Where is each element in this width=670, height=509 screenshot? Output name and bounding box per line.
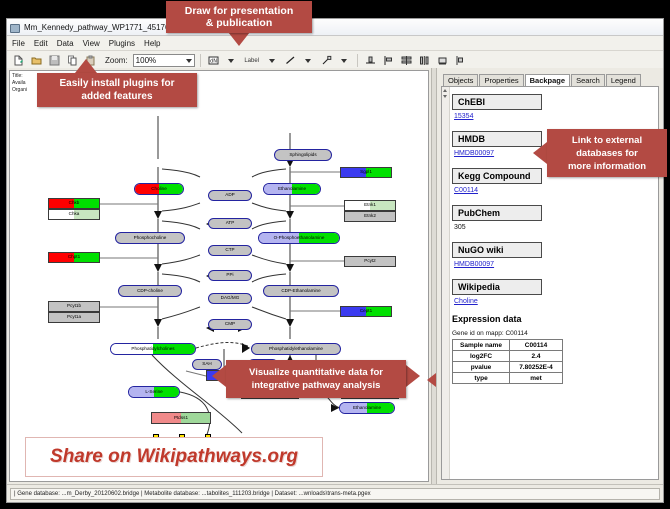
table-row: type met	[453, 373, 563, 384]
db-heading: ChEBI	[452, 94, 542, 110]
interaction-dropdown-icon[interactable]	[337, 53, 352, 68]
node-label: Cept1	[360, 309, 372, 314]
callout-draw-arrow	[228, 32, 250, 46]
panel-scrollbar[interactable]	[442, 87, 450, 479]
db-link[interactable]: 15354	[454, 113, 655, 120]
gene-node[interactable]: Pcyt2	[344, 256, 396, 267]
line-icon[interactable]	[283, 53, 298, 68]
title-bar: Mm_Kennedy_pathway_WP1771_45176.gpml	[7, 19, 663, 36]
menu-item-edit[interactable]: Edit	[34, 39, 48, 48]
node-label: CDP-choline	[137, 289, 163, 294]
node-label: Choline	[151, 187, 167, 192]
db-section-wikipedia: Wikipedia Choline	[452, 277, 655, 305]
status-bar: | Gene database: ...m_Derby_20120602.bri…	[7, 484, 663, 502]
stack-icon[interactable]	[399, 53, 414, 68]
metabolite-node[interactable]: ATP	[208, 218, 252, 229]
metabolite-node[interactable]: Ethanolamine	[263, 183, 321, 195]
menu-item-plugins[interactable]: Plugins	[109, 39, 135, 48]
row-key: type	[453, 373, 510, 384]
node-label: Pcyt2	[364, 259, 376, 264]
metabolite-node[interactable]: Sphingolipids	[274, 149, 332, 161]
chevron-down-icon	[186, 59, 192, 63]
db-heading: Wikipedia	[452, 279, 542, 295]
db-value: 305	[454, 224, 655, 231]
metabolite-node[interactable]: CDP-choline	[118, 285, 182, 297]
row-key: pvalue	[453, 362, 510, 373]
metabolite-node[interactable]: PPi	[208, 270, 252, 281]
node-label: Ethanolamine	[353, 406, 381, 411]
callout-visualize-line1: Visualize quantitative data for	[249, 366, 383, 379]
line-dropdown-icon[interactable]	[301, 53, 316, 68]
menu-item-view[interactable]: View	[83, 39, 100, 48]
callout-plugins-line1: Easily install plugins for	[59, 77, 174, 90]
row-value: C00114	[510, 340, 563, 351]
node-label: Chkb	[69, 201, 80, 206]
metabolite-node[interactable]: L-Serine	[128, 386, 180, 398]
zoom-value: 100%	[136, 56, 156, 65]
row-value: met	[510, 373, 563, 384]
row-key: Sample name	[453, 340, 510, 351]
menu-item-data[interactable]: Data	[57, 39, 74, 48]
align-top-icon[interactable]	[363, 53, 378, 68]
callout-link-line1: Link to external	[568, 134, 646, 147]
align-left-icon[interactable]	[381, 53, 396, 68]
metabolite-node[interactable]: Phosphatidylcholines	[110, 343, 196, 355]
callout-plugins-arrow	[75, 59, 97, 73]
gene-node[interactable]: Chpt1	[48, 252, 100, 263]
svg-text:dN: dN	[210, 59, 217, 65]
metabolite-node[interactable]: Choline	[134, 183, 184, 195]
metabolite-node[interactable]: DAG/MG	[208, 293, 252, 304]
metabolite-node[interactable]: CDP-Ethanolamine	[263, 285, 339, 297]
new-file-icon[interactable]	[11, 53, 26, 68]
db-link[interactable]: HMDB00097	[454, 261, 655, 268]
node-label: Phosphocholine	[134, 236, 167, 241]
callout-visualize-arrow-right	[406, 365, 420, 387]
canvas-column: Title: Availa Organi	[7, 68, 431, 484]
node-label: Etnk2	[364, 214, 376, 219]
db-section-nugo: NuGO wiki HMDB00097	[452, 240, 655, 268]
node-label: Ptdss1	[174, 416, 188, 421]
metabolite-node[interactable]: Phosphocholine	[115, 232, 185, 244]
callout-draw-line2: & publication	[185, 17, 294, 29]
toolbar-separator	[200, 54, 201, 67]
datanode-dropdown-icon[interactable]	[224, 53, 239, 68]
db-section-pubchem: PubChem 305	[452, 203, 655, 231]
db-heading: HMDB	[452, 131, 542, 147]
node-label: O-Phosphoethanolamine	[274, 236, 325, 241]
callout-link-arrow	[533, 142, 547, 164]
table-row: pvalue 7.80252E-4	[453, 362, 563, 373]
label-dropdown-icon[interactable]	[265, 53, 280, 68]
node-label: DAG/MG	[221, 296, 240, 301]
row-value: 2.4	[510, 351, 563, 362]
share-banner: Share on Wikipathways.org	[25, 437, 323, 477]
expression-data-heading: Expression data	[452, 314, 655, 324]
menu-item-file[interactable]: File	[12, 39, 25, 48]
metabolite-node[interactable]: ADP	[208, 190, 252, 201]
table-row: log2FC 2.4	[453, 351, 563, 362]
window-title: Mm_Kennedy_pathway_WP1771_45176.gpml	[24, 23, 189, 32]
node-label: PPi	[226, 273, 233, 278]
db-heading: Kegg Compound	[452, 168, 542, 184]
menu-bar: File Edit Data View Plugins Help	[7, 36, 663, 51]
node-label: Etnk1	[364, 203, 376, 208]
gene-node[interactable]: Chka	[48, 209, 100, 220]
status-text: | Gene database: ...m_Derby_20120602.bri…	[10, 488, 660, 500]
toolbar-separator	[357, 54, 358, 67]
gene-node[interactable]: Sgpl1	[340, 167, 392, 178]
metabolite-node[interactable]: CMP	[208, 319, 252, 330]
node-label: Ethanolamine	[278, 187, 306, 192]
node-label: Chpt1	[68, 255, 80, 260]
pathway-canvas[interactable]: Title: Availa Organi	[9, 70, 429, 482]
node-label: Phosphatidylcholines	[131, 347, 174, 352]
row-key: log2FC	[453, 351, 510, 362]
callout-visualize-line2: integrative pathway analysis	[249, 379, 383, 392]
expression-table: Sample name C00114 log2FC 2.4 pvalue 7.8…	[452, 339, 563, 384]
node-label: SAH	[202, 362, 211, 367]
table-row: Sample name C00114	[453, 340, 563, 351]
datanode-icon[interactable]: dN	[206, 53, 221, 68]
tab-properties[interactable]: Properties	[479, 74, 523, 86]
node-label: Pcyt1a	[67, 315, 81, 320]
node-label: Sgpl1	[360, 170, 372, 175]
gene-node[interactable]: Cept1	[340, 306, 392, 317]
node-label: L-Serine	[145, 390, 162, 395]
callout-link-line2: databases for	[568, 147, 646, 160]
tab-objects[interactable]: Objects	[443, 74, 478, 86]
gene-node[interactable]: Ptdss1	[151, 412, 211, 424]
row-value: 7.80252E-4	[510, 362, 563, 373]
callout-link-line3: more information	[568, 160, 646, 173]
node-label: Pcyt1b	[67, 304, 81, 309]
gene-node[interactable]: Chkb	[48, 198, 100, 209]
distribute-icon[interactable]	[417, 53, 432, 68]
db-link[interactable]: Choline	[454, 298, 655, 305]
open-folder-icon[interactable]	[29, 53, 44, 68]
group-icon[interactable]	[435, 53, 450, 68]
side-panel-tabs: Objects Properties Backpage Search Legen…	[443, 73, 659, 86]
gene-node[interactable]: Etnk1	[344, 200, 396, 211]
node-label: Chka	[69, 212, 80, 217]
node-label: CTP	[225, 248, 234, 253]
node-label: CMP	[225, 322, 235, 327]
node-label: ATP	[226, 221, 235, 226]
node-label: Phosphatidylethanolamine	[269, 347, 323, 352]
metabolite-node[interactable]: Phosphatidylethanolamine	[251, 343, 341, 355]
node-label: ADP	[225, 193, 234, 198]
label-tool[interactable]: Label	[242, 53, 262, 68]
db-heading: NuGO wiki	[452, 242, 542, 258]
callout-link: Link to external databases for more info…	[547, 129, 667, 177]
callout-draw-line1: Draw for presentation	[185, 5, 294, 17]
callout-visualize: Visualize quantitative data for integrat…	[226, 360, 406, 398]
node-label: CDP-Ethanolamine	[281, 289, 320, 294]
order-icon[interactable]	[453, 53, 468, 68]
node-label: Sphingolipids	[289, 153, 316, 158]
gene-node[interactable]: Etnk2	[344, 211, 396, 222]
menu-item-help[interactable]: Help	[144, 39, 160, 48]
metabolite-node[interactable]: CTP	[208, 245, 252, 256]
db-section-chebi: ChEBI 15354	[452, 92, 655, 120]
share-banner-text: Share on Wikipathways.org	[50, 446, 298, 468]
callout-visualize-arrow-left	[212, 365, 226, 387]
metabolite-node[interactable]: O-Phosphoethanolamine	[258, 232, 340, 244]
db-link[interactable]: C00114	[454, 187, 655, 194]
callout-plugins: Easily install plugins for added feature…	[37, 73, 197, 107]
save-icon[interactable]	[47, 53, 62, 68]
pathvisio-window: Mm_Kennedy_pathway_WP1771_45176.gpml Fil…	[6, 18, 664, 503]
db-heading: PubChem	[452, 205, 542, 221]
tab-legend[interactable]: Legend	[606, 74, 641, 86]
callout-expression-arrow	[427, 373, 436, 387]
gene-node[interactable]: Pcyt1a	[48, 312, 100, 323]
callout-plugins-line2: added features	[59, 90, 174, 103]
zoom-label: Zoom:	[105, 56, 128, 65]
zoom-select[interactable]: 100%	[133, 54, 195, 67]
metabolite-node[interactable]: Ethanolamine	[339, 402, 395, 414]
app-icon	[10, 23, 20, 32]
gene-node[interactable]: Pcyt1b	[48, 301, 100, 312]
callout-draw: Draw for presentation & publication	[166, 1, 312, 33]
tab-search[interactable]: Search	[571, 74, 605, 86]
interaction-icon[interactable]	[319, 53, 334, 68]
gene-id-line: Gene id on mapp: C00114	[452, 330, 655, 337]
